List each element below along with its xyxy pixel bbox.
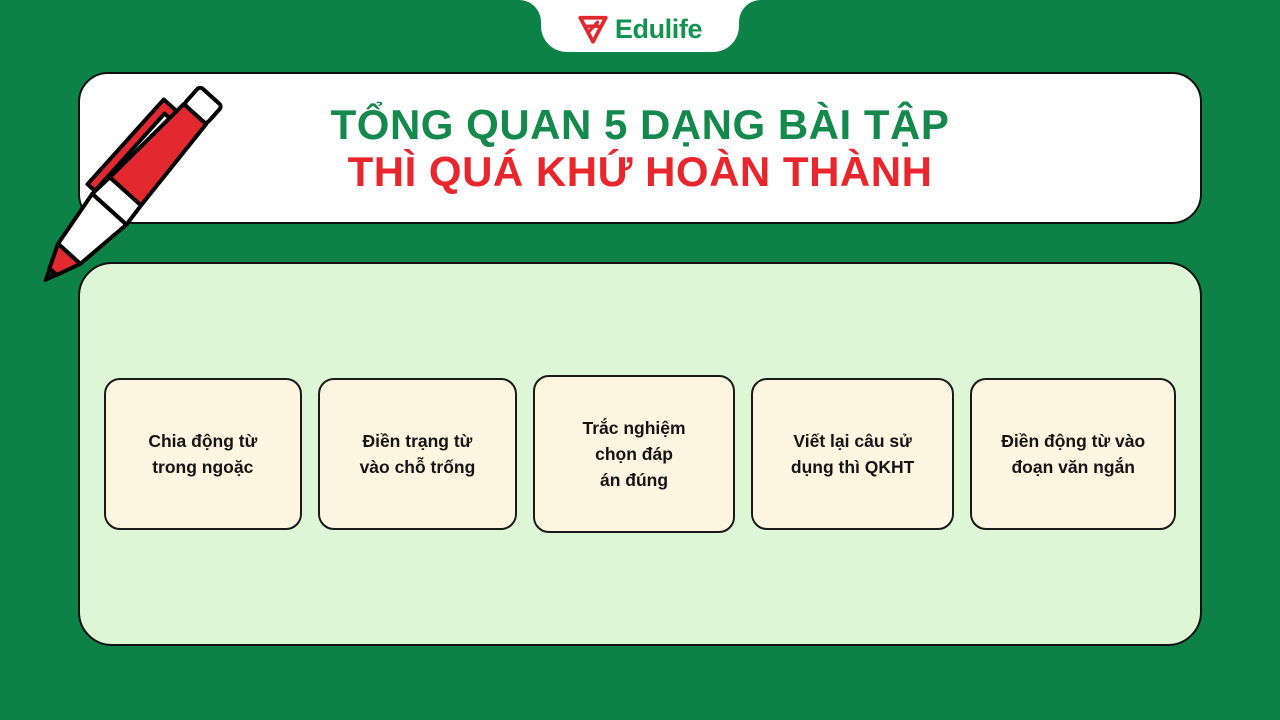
edulife-triangle-icon xyxy=(578,14,608,44)
exercise-type-list: Chia động từ trong ngoặc Điền trạng từ v… xyxy=(80,264,1200,644)
exercise-card-1[interactable]: Chia động từ trong ngoặc xyxy=(104,378,302,530)
exercise-card-1-line1: Chia động từ xyxy=(148,428,257,454)
exercise-card-5[interactable]: Điền động từ vào đoạn văn ngắn xyxy=(970,378,1176,530)
exercise-card-3-line1: Trắc nghiệm xyxy=(582,415,685,441)
title-card: TỔNG QUAN 5 DẠNG BÀI TẬP THÌ QUÁ KHỨ HOÀ… xyxy=(78,72,1202,224)
brand-name: Edulife xyxy=(615,16,702,43)
exercise-card-4-line1: Viết lại câu sử xyxy=(791,428,914,454)
exercise-card-3[interactable]: Trắc nghiệm chọn đáp án đúng xyxy=(533,375,735,533)
page-title-line1: TỔNG QUAN 5 DẠNG BÀI TẬP xyxy=(331,101,950,148)
exercise-card-1-line2: trong ngoặc xyxy=(148,454,257,480)
exercise-card-2[interactable]: Điền trạng từ vào chỗ trống xyxy=(318,378,518,530)
exercise-card-4-line2: dụng thì QKHT xyxy=(791,454,914,480)
page-title-line2: THÌ QUÁ KHỨ HOÀN THÀNH xyxy=(348,148,933,195)
slide-canvas: Edulife TỔNG QUAN 5 DẠNG BÀI TẬP THÌ QUÁ… xyxy=(0,0,1280,720)
exercise-card-2-line2: vào chỗ trống xyxy=(360,454,476,480)
exercise-card-5-line1: Điền động từ vào xyxy=(1001,428,1145,454)
exercise-card-3-line3: án đúng xyxy=(582,467,685,493)
exercise-card-3-line2: chọn đáp xyxy=(582,441,685,467)
exercise-card-4[interactable]: Viết lại câu sử dụng thì QKHT xyxy=(751,378,955,530)
exercise-card-5-line2: đoạn văn ngắn xyxy=(1001,454,1145,480)
tab-shoulder-right xyxy=(739,0,773,34)
brand-logo-tab: Edulife xyxy=(541,0,739,52)
exercise-card-2-line1: Điền trạng từ xyxy=(360,428,476,454)
content-panel: Chia động từ trong ngoặc Điền trạng từ v… xyxy=(78,262,1202,646)
tab-shoulder-left xyxy=(507,0,541,34)
